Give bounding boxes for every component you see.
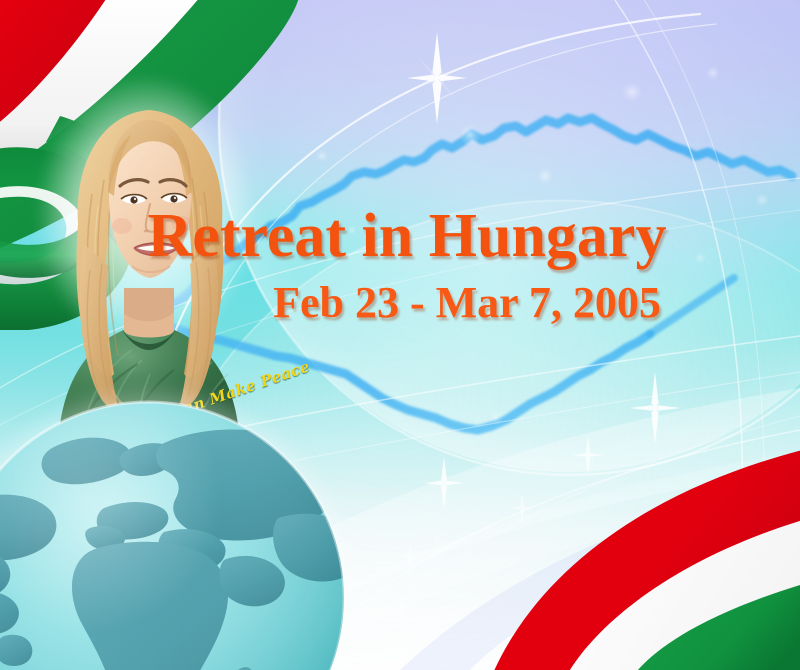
page-title: Retreat in Hungary: [14, 205, 800, 267]
poster-canvas: Be Vegan Make Peace: [0, 0, 800, 670]
earth-globe: [0, 398, 348, 670]
headline-block: Retreat in Hungary Feb 23 - Mar 7, 2005: [0, 205, 800, 325]
page-subtitle-dates: Feb 23 - Mar 7, 2005: [14, 281, 800, 325]
